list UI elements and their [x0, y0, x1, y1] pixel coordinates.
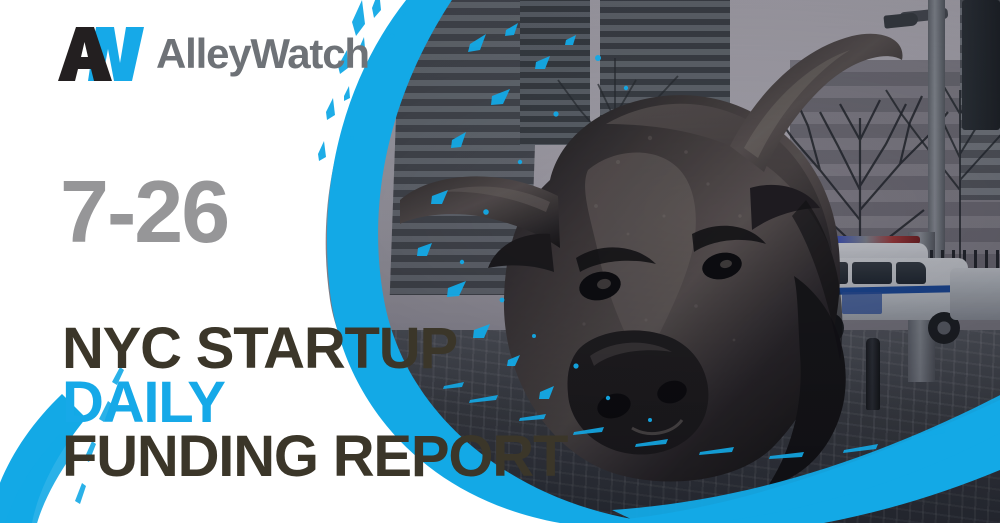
headline-line-1: NYC STARTUP: [62, 322, 567, 376]
headline-line-3: FUNDING REPORT: [62, 430, 567, 484]
alleywatch-aw-monogram-icon: [58, 23, 150, 85]
brand-logo[interactable]: AlleyWatch: [58, 18, 369, 90]
headline-line-2: DAILY: [62, 376, 567, 430]
brand-wordmark: AlleyWatch: [156, 33, 369, 75]
report-date: 7-26: [60, 168, 228, 256]
funding-report-graphic: PD: [0, 0, 1000, 523]
report-headline: NYC STARTUP DAILY FUNDING REPORT: [62, 322, 567, 484]
